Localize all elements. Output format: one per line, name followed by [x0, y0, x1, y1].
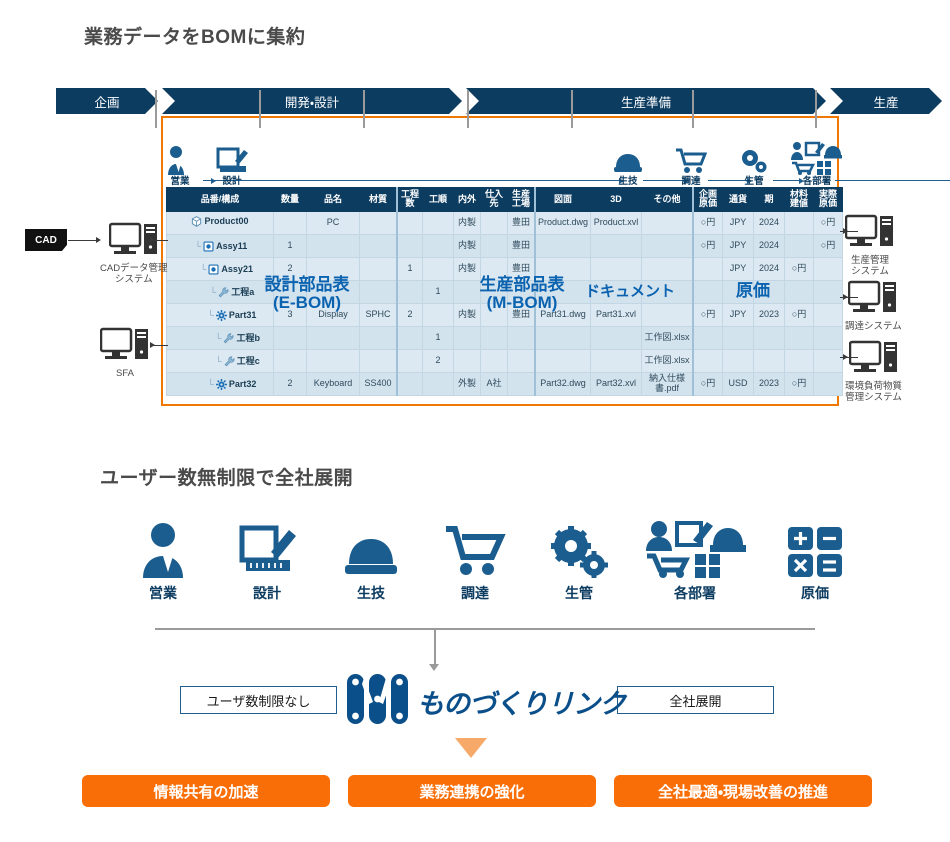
col-header: 材料建値 [785, 188, 814, 212]
table-cell: ○円 [693, 372, 723, 395]
gears-icon [550, 520, 608, 578]
department-label: 生技 [357, 583, 385, 603]
badge-companywide: 全社展開 [617, 686, 774, 714]
table-cell [360, 326, 398, 349]
table-row: Product00PC内製豊田Product.dwgProduct.xvl○円J… [167, 211, 843, 234]
table-cell [481, 349, 508, 372]
col-header: 図面 [535, 188, 591, 212]
table-cell [535, 257, 591, 280]
table-cell [360, 211, 398, 234]
table-cell: Part32.dwg [535, 372, 591, 395]
table-cell: ○円 [785, 257, 814, 280]
table-cell [814, 303, 843, 326]
calculator-icon [787, 520, 843, 578]
row-label: Part31 [229, 311, 257, 320]
department-row: 営業 設計 生技 調達 生管 各部署 原価 [120, 520, 860, 615]
product-logo: ものづくりリンク [345, 672, 625, 731]
table-cell: 豊田 [508, 211, 536, 234]
cad-tag: CAD [25, 229, 67, 251]
table-cell [423, 257, 454, 280]
table-cell: 3 [274, 303, 307, 326]
table-cell: 豊田 [508, 257, 536, 280]
table-cell [481, 303, 508, 326]
table-cell [481, 326, 508, 349]
desktop-server-icon [845, 214, 895, 253]
row-label: Part32 [229, 380, 257, 389]
table-cell [274, 211, 307, 234]
flow-node-label: 調達 [681, 177, 700, 187]
table-cell [814, 280, 843, 303]
bom-table: 品番/構成 数量 品名 材質 工程数 工順 内外 仕入先 生産工場 図面 3D … [166, 187, 843, 396]
col-header: 数量 [274, 188, 307, 212]
bus-down-arrow-icon [429, 664, 439, 671]
table-cell [693, 257, 723, 280]
table-cell [307, 326, 360, 349]
table-cell [723, 349, 754, 372]
table-cell [481, 257, 508, 280]
department-seigi: 生技 [328, 520, 414, 603]
phase-chevron-kikaku: 企画 [56, 88, 158, 114]
table-cell: 2024 [754, 257, 785, 280]
table-cell: 豊田 [508, 303, 536, 326]
logo-text: ものづくりリンク [417, 682, 625, 721]
table-cell [785, 326, 814, 349]
table-cell [508, 372, 536, 395]
table-cell [754, 349, 785, 372]
table-cell: JPY [723, 257, 754, 280]
table-cell: 1 [423, 280, 454, 303]
table-cell [642, 211, 694, 234]
table-cell: USD [723, 372, 754, 395]
table-cell [591, 280, 642, 303]
table-cell: ○円 [693, 211, 723, 234]
department-label: 各部署 [674, 583, 716, 603]
flow-node-label: 設計 [222, 177, 241, 187]
table-cell: JPY [723, 211, 754, 234]
drafting-icon [237, 520, 297, 578]
section2-title: ユーザー数無制限で全社展開 [100, 463, 353, 490]
row-label: 工程a [231, 288, 254, 297]
table-cell [693, 326, 723, 349]
system-caption: SFA [116, 368, 134, 379]
row-name-cell: └工程a [167, 280, 274, 303]
table-cell [481, 234, 508, 257]
desktop-server-icon [848, 280, 898, 319]
table-cell [423, 234, 454, 257]
table-row: └工程b1工作図.xlsx [167, 326, 843, 349]
col-header: 通貨 [723, 188, 754, 212]
outcome-button-2[interactable]: 業務連携の強化 [348, 775, 596, 807]
row-name-cell: └Assy11 [167, 234, 274, 257]
table-cell [307, 349, 360, 372]
col-header: 3D [591, 188, 642, 212]
col-header: 仕入先 [481, 188, 508, 212]
table-row: └Assy111内製豊田○円JPY2024○円 [167, 234, 843, 257]
table-cell: 工作図.xlsx [642, 326, 694, 349]
col-header: 工程数 [397, 188, 423, 212]
table-cell [814, 257, 843, 280]
table-cell: ○円 [814, 234, 843, 257]
table-cell: 2 [423, 349, 454, 372]
table-row: └工程c2工作図.xlsx [167, 349, 843, 372]
flow-node-label: 営業 [170, 177, 189, 187]
row-name-cell: Product00 [167, 211, 274, 234]
table-cell [785, 211, 814, 234]
row-label: 工程c [237, 357, 260, 366]
businessperson-icon [166, 143, 194, 175]
department-label: 生管 [565, 583, 593, 603]
col-header: 工順 [423, 188, 454, 212]
table-cell: SPHC [360, 303, 398, 326]
table-cell [535, 234, 591, 257]
drafting-icon [215, 143, 249, 175]
table-cell: 工作図.xlsx [642, 349, 694, 372]
table-cell [508, 349, 536, 372]
table-cell: 2024 [754, 211, 785, 234]
table-cell: A社 [481, 372, 508, 395]
table-cell [481, 280, 508, 303]
phase-label: 生産準備 [621, 92, 671, 111]
phase-label: 開発・設計 [285, 92, 339, 111]
helmet-icon [613, 143, 643, 175]
department-chotatsu: 調達 [432, 520, 518, 603]
section1-title: 業務データをBOMに集約 [84, 22, 305, 49]
table-cell [642, 303, 694, 326]
system-caption: 調達システム [845, 321, 902, 332]
table-cell [785, 349, 814, 372]
flow-node-sekkei: 設計 [215, 143, 249, 187]
phase-label: 企画 [94, 92, 119, 111]
outcome-button-3[interactable]: 全社最適・現場改善の推進 [614, 775, 872, 807]
table-cell: 納入仕様書.pdf [642, 372, 694, 395]
table-cell [814, 326, 843, 349]
table-cell: ○円 [814, 211, 843, 234]
bus-down-line [434, 628, 436, 666]
table-cell [693, 280, 723, 303]
table-cell: 内製 [454, 211, 481, 234]
system-production-management: 生産管理 システム [845, 214, 895, 278]
table-cell [397, 349, 423, 372]
departments-icon [643, 520, 747, 578]
phase-chevron-seisan: 生産 [830, 88, 942, 114]
table-cell [397, 234, 423, 257]
businessperson-icon [137, 520, 189, 578]
row-name-cell: └Part31 [167, 303, 274, 326]
table-cell [693, 349, 723, 372]
departments-icon [789, 143, 845, 175]
table-cell [508, 326, 536, 349]
flow-node-chotatsu: 調達 [675, 143, 707, 187]
table-cell [723, 326, 754, 349]
table-cell [397, 280, 423, 303]
table-cell [785, 234, 814, 257]
department-genka: 原価 [772, 520, 858, 603]
table-cell: PC [307, 211, 360, 234]
table-cell [642, 234, 694, 257]
row-name-cell: └Part32 [167, 372, 274, 395]
table-cell: 内製 [454, 303, 481, 326]
table-cell: 豊田 [508, 234, 536, 257]
badge-unlimited-users: ユーザ数制限なし [180, 686, 337, 714]
table-cell: 外製 [454, 372, 481, 395]
table-cell [591, 234, 642, 257]
table-row: └工程a1 [167, 280, 843, 303]
flow-node-label: 生管 [744, 177, 763, 187]
table-cell [274, 326, 307, 349]
department-label: 設計 [253, 583, 281, 603]
table-cell: Product.dwg [535, 211, 591, 234]
table-cell [274, 280, 307, 303]
row-label: Assy11 [216, 242, 247, 251]
system-cad-management: CADデータ管理 システム [100, 222, 168, 286]
table-cell [814, 372, 843, 395]
role-flow-row: 営業 設計 生技 調達 生管 各部署 原価 [163, 126, 837, 186]
table-header-row: 品番/構成 数量 品名 材質 工程数 工順 内外 仕入先 生産工場 図面 3D … [167, 188, 843, 212]
table-cell [397, 211, 423, 234]
table-cell: 内製 [454, 234, 481, 257]
table-cell: JPY [723, 234, 754, 257]
row-label: 工程b [236, 334, 260, 343]
table-cell [423, 303, 454, 326]
table-cell [481, 211, 508, 234]
system-caption: CADデータ管理 システム [100, 263, 168, 286]
table-cell [360, 257, 398, 280]
table-cell [535, 349, 591, 372]
cart-icon [675, 143, 707, 175]
helmet-icon [343, 520, 399, 578]
table-cell: Display [307, 303, 360, 326]
table-cell [423, 372, 454, 395]
row-name-cell: └工程b [167, 326, 274, 349]
system-environmental: 環境負荷物質 管理システム [845, 340, 902, 404]
col-header: 材質 [360, 188, 398, 212]
department-eigyo: 営業 [120, 520, 206, 603]
table-cell [307, 280, 360, 303]
department-kakubusho: 各部署 [640, 520, 750, 603]
table-cell: Part32.xvl [591, 372, 642, 395]
desktop-server-icon [849, 340, 899, 379]
table-cell: 2 [274, 257, 307, 280]
table-row: └Part322KeyboardSS400外製A社Part32.dwgPart3… [167, 372, 843, 395]
table-cell: JPY [723, 303, 754, 326]
col-header: 内外 [454, 188, 481, 212]
table-cell: ○円 [785, 372, 814, 395]
row-label: Assy21 [221, 265, 253, 274]
table-cell [454, 326, 481, 349]
table-cell [642, 280, 694, 303]
flow-node-seigi: 生技 [613, 143, 643, 187]
table-cell: 2 [274, 372, 307, 395]
table-cell [274, 349, 307, 372]
table-cell [454, 280, 481, 303]
department-bus-line [155, 628, 815, 630]
desktop-server-icon [100, 327, 150, 366]
table-cell [535, 280, 591, 303]
gears-icon [739, 143, 769, 175]
department-seikan: 生管 [536, 520, 622, 603]
table-cell [591, 326, 642, 349]
table-cell: 1 [274, 234, 307, 257]
table-cell: 2024 [754, 234, 785, 257]
system-caption: 環境負荷物質 管理システム [845, 381, 902, 404]
table-cell [360, 280, 398, 303]
funnel-arrow-icon [455, 738, 487, 758]
table-cell: ○円 [693, 234, 723, 257]
table-cell [642, 257, 694, 280]
table-cell: 内製 [454, 257, 481, 280]
flow-node-seikan: 生管 [739, 143, 769, 187]
flow-node-kakubusho: 各部署 [789, 143, 845, 187]
phase-label: 生産 [873, 92, 898, 111]
col-header: 品名 [307, 188, 360, 212]
table-row: └Assy2121内製豊田JPY2024○円 [167, 257, 843, 280]
table-cell: ○円 [693, 303, 723, 326]
col-header: 品番/構成 [167, 188, 274, 212]
flow-node-label: 生技 [618, 177, 637, 187]
table-cell [785, 280, 814, 303]
table-cell [360, 349, 398, 372]
table-cell [754, 280, 785, 303]
department-label: 調達 [461, 583, 489, 603]
table-cell [723, 280, 754, 303]
system-procurement: 調達システム [845, 280, 902, 332]
system-caption: 生産管理 システム [851, 255, 889, 278]
table-cell [397, 372, 423, 395]
table-cell: 1 [423, 326, 454, 349]
table-cell: 2023 [754, 303, 785, 326]
monozukuri-link-mark-icon [345, 672, 411, 731]
table-cell [508, 280, 536, 303]
row-name-cell: └Assy21 [167, 257, 274, 280]
table-cell [454, 349, 481, 372]
table-cell [814, 349, 843, 372]
table-cell: 2 [397, 303, 423, 326]
col-header: 期 [754, 188, 785, 212]
cart-icon [444, 520, 506, 578]
flow-node-eigyo: 営業 [166, 143, 194, 187]
row-label: Product00 [204, 217, 248, 226]
table-cell [535, 326, 591, 349]
department-label: 営業 [149, 583, 177, 603]
table-cell [591, 349, 642, 372]
table-cell: ○円 [785, 303, 814, 326]
table-cell [423, 211, 454, 234]
col-header: 企画原価 [693, 188, 723, 212]
table-cell [754, 326, 785, 349]
table-cell [591, 257, 642, 280]
table-cell [307, 257, 360, 280]
table-cell: Part31.dwg [535, 303, 591, 326]
table-cell: 1 [397, 257, 423, 280]
table-cell [307, 234, 360, 257]
phase-bar: 企画 開発・設計 生産準備 生産 [56, 88, 942, 114]
phase-chevron-seisanjunbi: 生産準備 [466, 88, 826, 114]
outcome-button-1[interactable]: 情報共有の加速 [82, 775, 330, 807]
table-cell: Keyboard [307, 372, 360, 395]
table-cell: SS400 [360, 372, 398, 395]
table-cell [360, 234, 398, 257]
department-sekkei: 設計 [224, 520, 310, 603]
table-cell [397, 326, 423, 349]
phase-chevron-kaihatsu: 開発・設計 [162, 88, 462, 114]
col-header: その他 [642, 188, 694, 212]
department-label: 原価 [801, 583, 829, 603]
table-row: └Part313DisplaySPHC2内製豊田Part31.dwgPart31… [167, 303, 843, 326]
row-name-cell: └工程c [167, 349, 274, 372]
col-header: 生産工場 [508, 188, 536, 212]
table-cell: Product.xvl [591, 211, 642, 234]
table-cell: Part31.xvl [591, 303, 642, 326]
flow-node-label: 各部署 [803, 177, 832, 187]
system-sfa: SFA [100, 327, 150, 379]
col-header: 実際原価 [814, 188, 843, 212]
table-cell: 2023 [754, 372, 785, 395]
